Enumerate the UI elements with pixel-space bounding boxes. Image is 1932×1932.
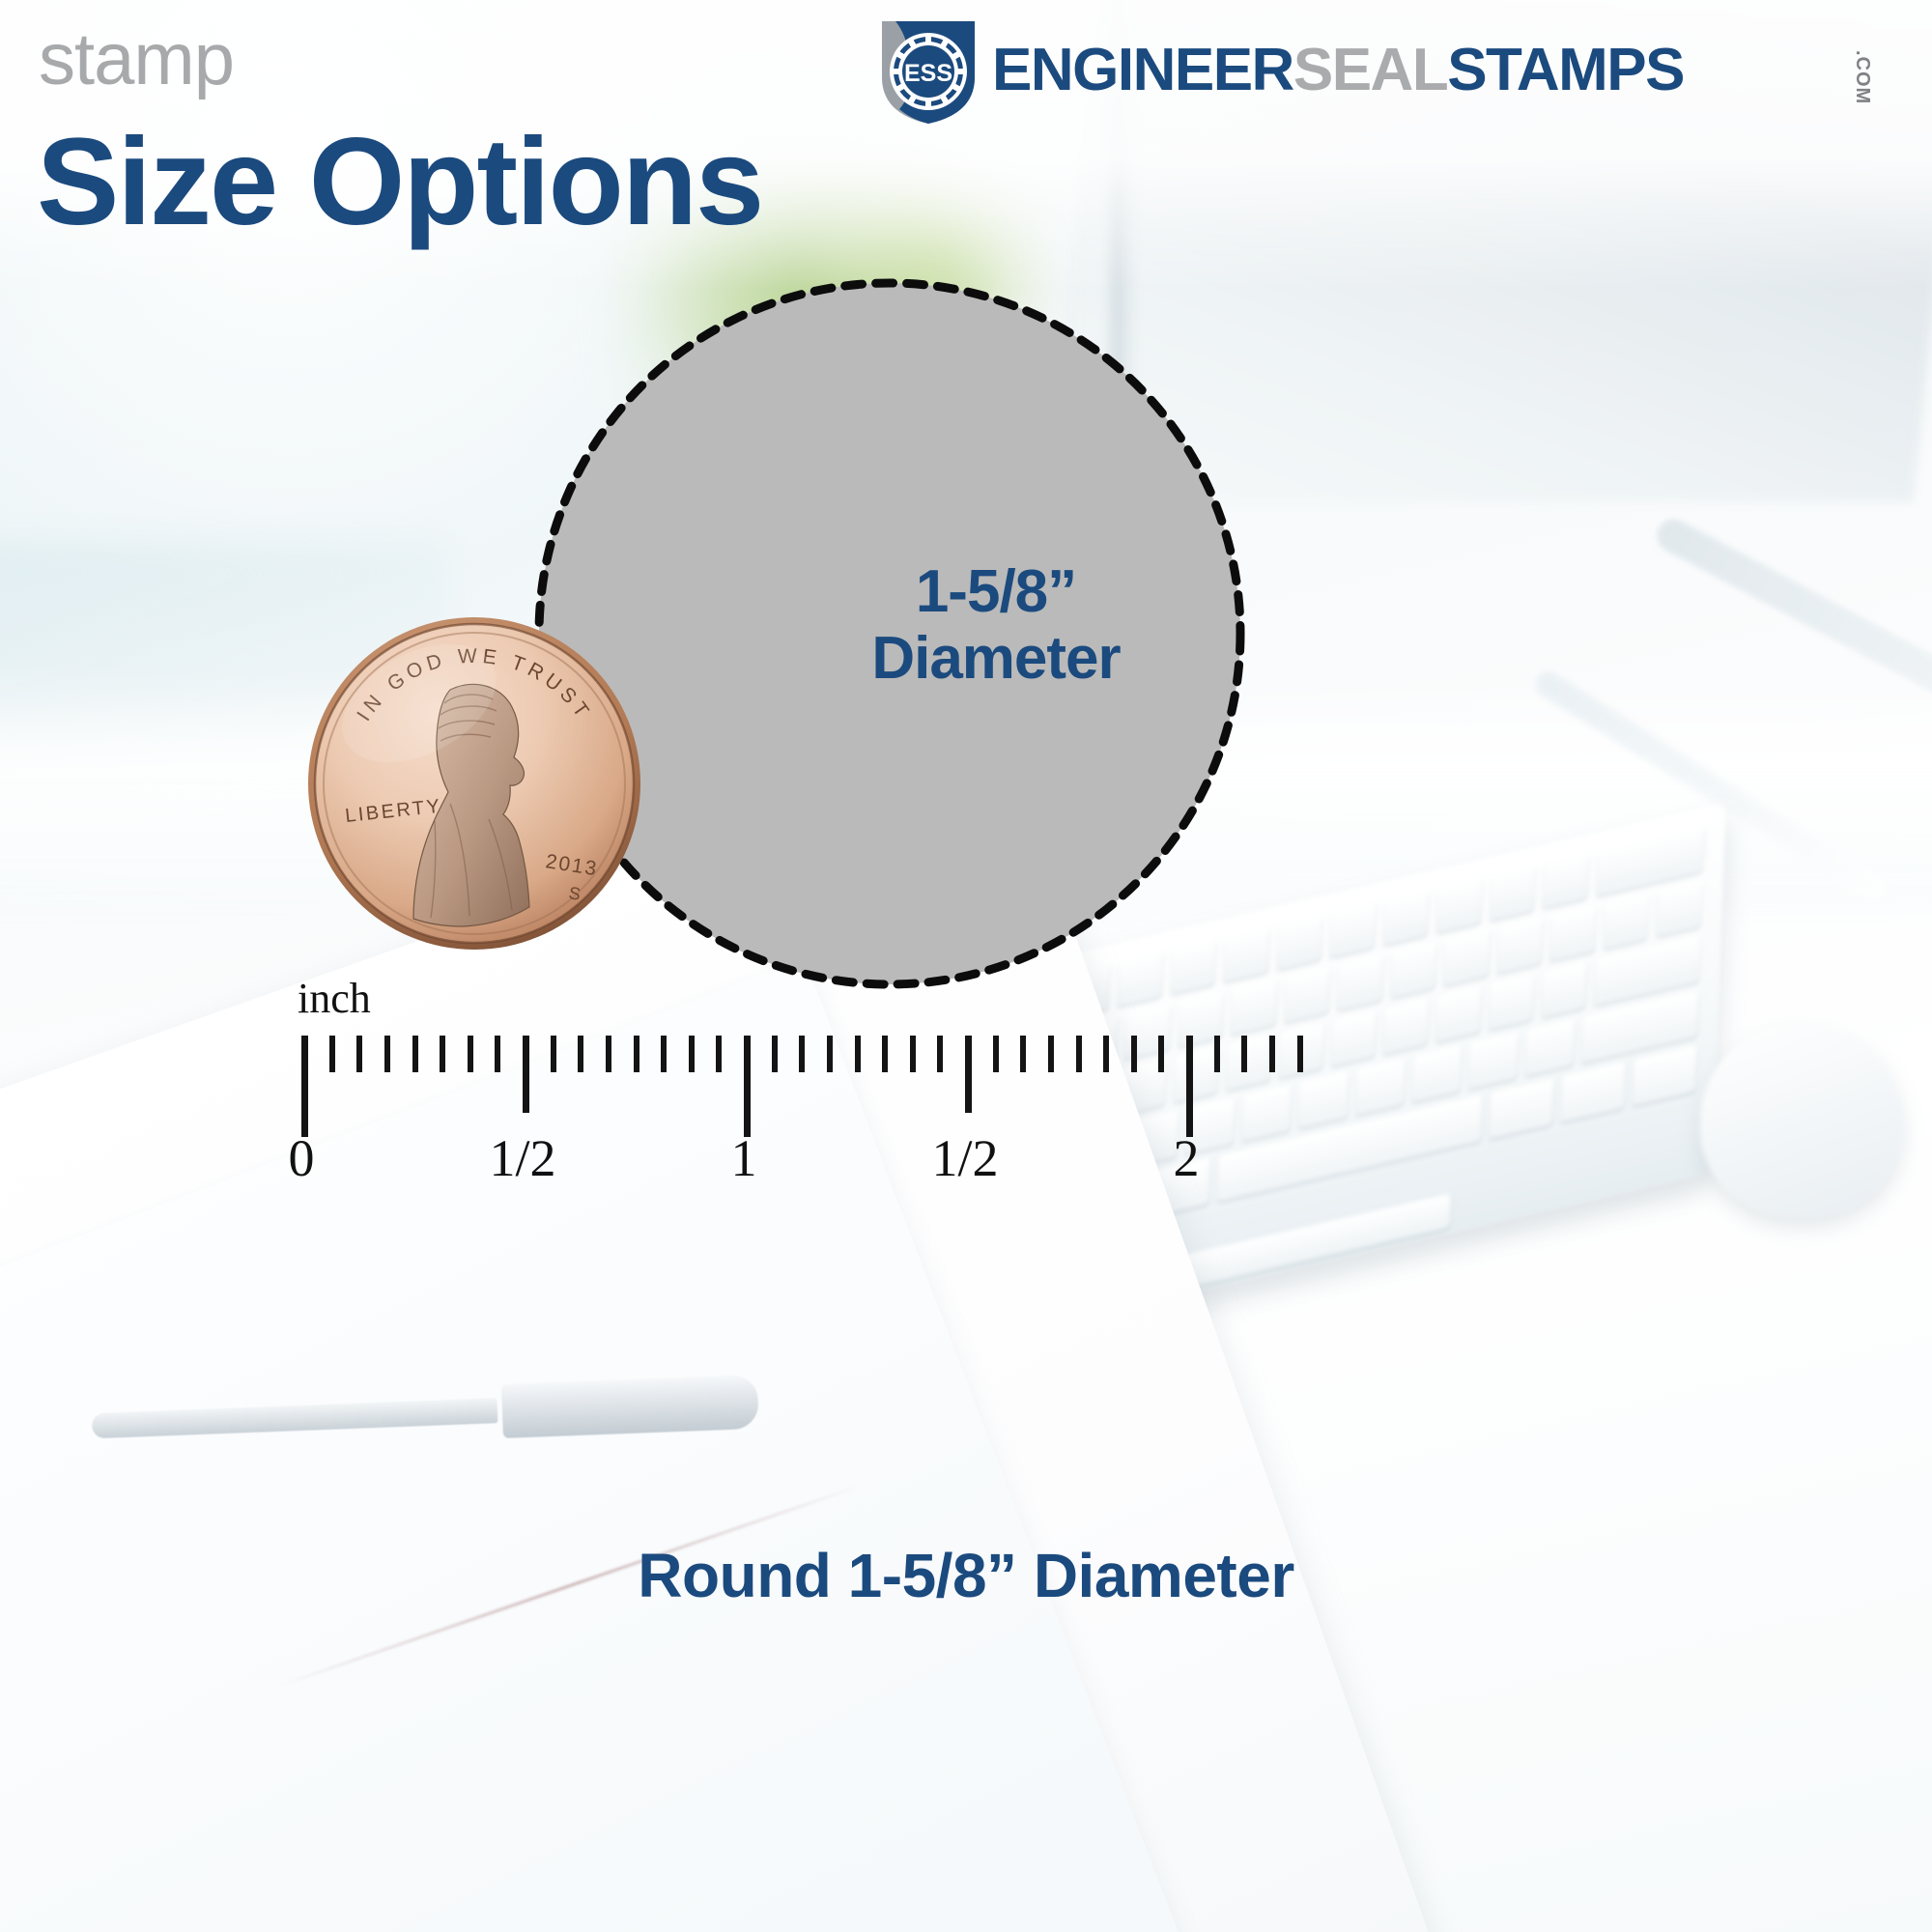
ruler-tick [1020,1036,1026,1072]
ruler-tick [356,1036,362,1072]
ruler-tick [551,1036,556,1072]
ruler-tick [882,1036,888,1072]
ruler-tick [716,1036,722,1072]
ruler-tick [1186,1036,1193,1137]
ruler-label: 1/2 [489,1128,555,1188]
ruler-tick [772,1036,778,1072]
background-mouse [1700,1024,1903,1217]
ruler-label: 0 [289,1128,315,1188]
brand-word-engineer: ENGINEER [992,37,1293,103]
ruler-tick [1158,1036,1164,1072]
ruler-tick [799,1036,805,1072]
svg-text:ESS: ESS [904,60,952,87]
ruler-tick [468,1036,473,1072]
ruler-label: 1/2 [931,1128,998,1188]
brand-logo: ESS ENGINEERSEALSTAMPS .COM [874,17,1908,124]
penny-coin: IN GOD WE TRUST LIBERTY 2013 S [305,614,643,952]
ruler-tick [578,1036,583,1072]
size-caption: Round 1-5/8” Diameter [0,1540,1932,1611]
ruler-tick [1048,1036,1054,1072]
brand-word-seal: SEAL [1293,37,1447,103]
ruler-tick [1131,1036,1137,1072]
ruler-label: 1 [731,1128,757,1188]
ruler-tick [910,1036,916,1072]
ruler-label: 2 [1174,1128,1200,1188]
ruler-tick [689,1036,695,1072]
size-preview-line1: 1-5/8” [916,558,1076,625]
brand-wordmark: ENGINEERSEALSTAMPS [992,41,1684,100]
ruler-tick [993,1036,999,1072]
ruler-tick [1103,1036,1109,1072]
ruler-tick [495,1036,500,1072]
ruler-tick [440,1036,445,1072]
ruler-tick [606,1036,611,1072]
ruler-unit-label: inch [298,974,371,1023]
page-title: Size Options [37,121,762,244]
ruler-tick [412,1036,418,1072]
ruler-tick [965,1036,972,1113]
ruler-tick [329,1036,335,1072]
ruler-tick [523,1036,529,1113]
ruler-tick [1297,1036,1303,1072]
ruler-tick [384,1036,390,1072]
ruler-tick [661,1036,667,1072]
ruler-tick [1269,1036,1275,1072]
ruler-tick [937,1036,943,1072]
ruler-tick [634,1036,639,1072]
ruler-tick [744,1036,751,1137]
size-options-graphic: stamp Size Options [0,0,1932,1932]
ruler-tick [855,1036,861,1072]
inch-ruler: inch 01/211/22 [290,985,1507,1207]
size-preview-line2: Diameter [774,625,1218,692]
brand-word-stamps: STAMPS [1447,37,1684,103]
ruler-tick [1076,1036,1082,1072]
size-preview-label: 1-5/8” Diameter [774,558,1218,693]
brand-word-dotcom: .COM [1853,50,1872,104]
ruler-tick [827,1036,833,1072]
ruler-tick [1214,1036,1220,1072]
ruler-tick [1241,1036,1247,1072]
ruler-tick [301,1036,308,1137]
ess-gear-shield-icon: ESS [874,17,982,126]
kicker-label: stamp [39,23,234,97]
